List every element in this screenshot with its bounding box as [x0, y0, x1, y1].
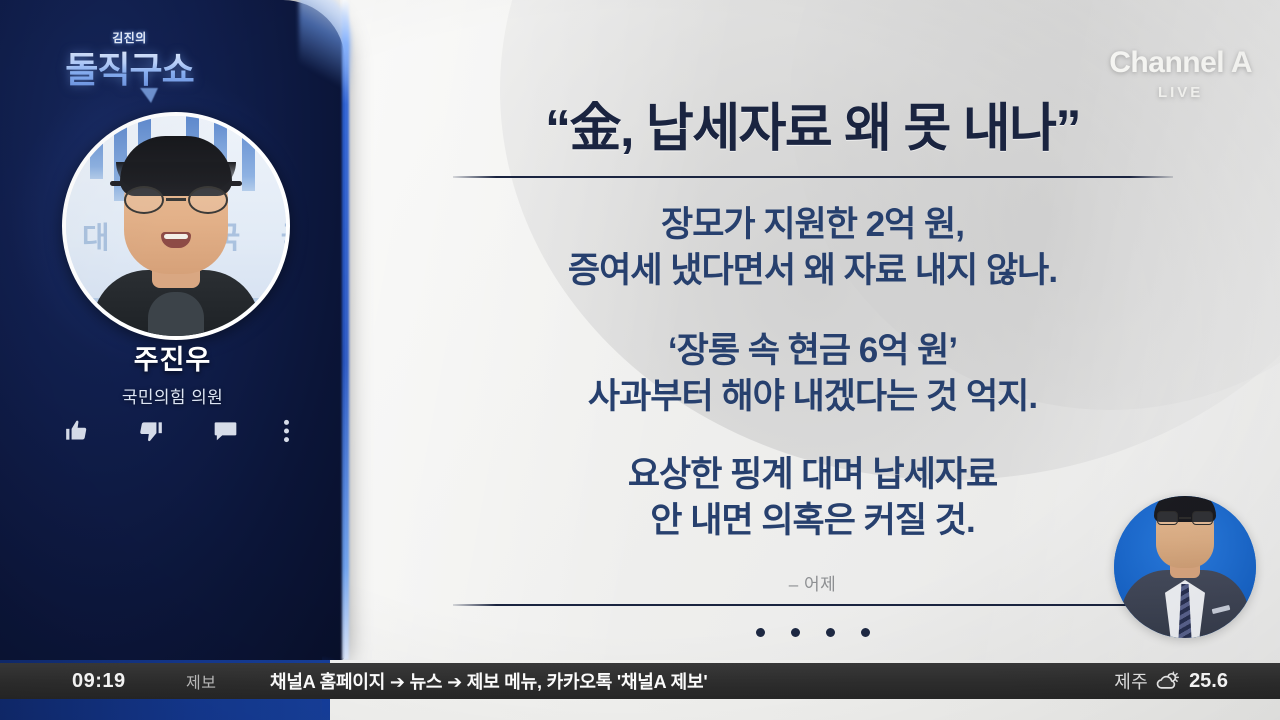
bottom-ticker: 09:19 제보 채널A 홈페이지 ➔ 뉴스 ➔ 제보 메뉴, 카카오톡 '채널…	[0, 660, 1280, 720]
page-dot[interactable]	[756, 628, 765, 637]
guest-glasses	[122, 186, 230, 216]
guest-portrait: 대한민국 국회	[62, 112, 290, 340]
guest-figure	[100, 146, 252, 340]
guest-role: 국민의힘 의원	[0, 383, 345, 408]
clock: 09:19	[72, 670, 126, 693]
thumbs-down-icon[interactable]	[138, 418, 164, 449]
tip-label: 제보	[186, 669, 216, 693]
guest-action-icons	[50, 418, 312, 448]
page-dot[interactable]	[826, 628, 835, 637]
quote-paragraph-2: ‘장롱 속 현금 6억 원’ 사과부터 해야 내겠다는 것 억지.	[345, 328, 1280, 419]
comment-icon[interactable]	[212, 418, 239, 449]
thumbs-up-icon[interactable]	[64, 418, 90, 449]
quote-line: 요상한 핑계 대며 납세자료	[345, 452, 1280, 498]
more-options-icon[interactable]	[282, 418, 291, 449]
weather-region: 제주	[1114, 668, 1148, 694]
show-logo-speech-tail	[140, 88, 158, 103]
page-indicator-dots[interactable]	[756, 628, 870, 637]
quote-line: 장모가 지원한 2억 원,	[345, 202, 1280, 248]
page-dot[interactable]	[861, 628, 870, 637]
page-dot[interactable]	[791, 628, 800, 637]
guest-name: 주진우	[0, 338, 345, 377]
divider-top	[453, 176, 1173, 178]
show-logo: 김진의 돌직구쇼	[52, 26, 207, 114]
broadcast-screen: 김진의 돌직구쇼 대한민국 국회 주진우 국민의힘 의원	[0, 0, 1280, 720]
headline: “金, 납세자료 왜 못 내나”	[345, 86, 1280, 161]
guest-shirt	[148, 292, 204, 340]
quote-paragraph-1: 장모가 지원한 2억 원, 증여세 냈다면서 왜 자료 내지 않나.	[345, 202, 1280, 293]
quote-line: 증여세 냈다면서 왜 자료 내지 않나.	[345, 248, 1280, 294]
quote-line: 사과부터 해야 내겠다는 것 억지.	[345, 374, 1280, 420]
quote-line: ‘장롱 속 현금 6억 원’	[345, 328, 1280, 374]
anchor-inset	[1114, 496, 1256, 638]
partly-cloudy-icon	[1154, 670, 1180, 697]
weather-temperature: 25.6	[1189, 670, 1228, 693]
anchor-glasses	[1157, 511, 1213, 526]
show-logo-title: 돌직구쇼	[65, 41, 193, 93]
divider-bottom	[453, 604, 1173, 606]
ticker-message: 채널A 홈페이지 ➔ 뉴스 ➔ 제보 메뉴, 카카오톡 '채널A 제보'	[270, 668, 707, 694]
ticker-bar: 09:19 제보 채널A 홈페이지 ➔ 뉴스 ➔ 제보 메뉴, 카카오톡 '채널…	[0, 663, 1280, 699]
